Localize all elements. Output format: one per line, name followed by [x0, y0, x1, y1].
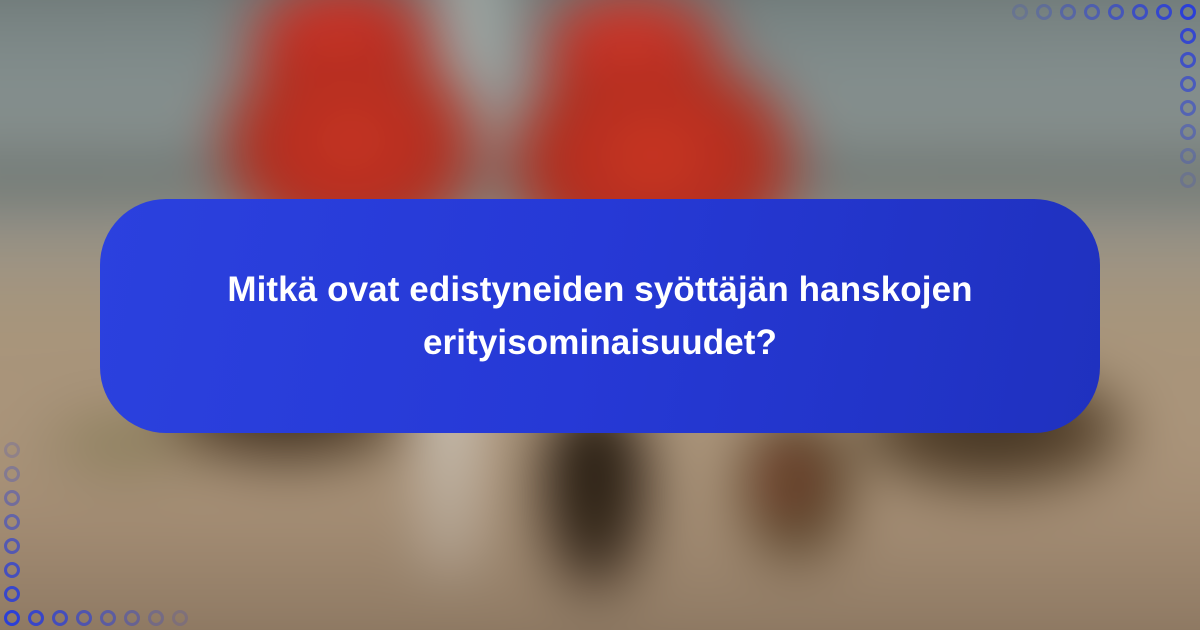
decorative-dot — [1156, 4, 1172, 20]
decorative-dot — [4, 538, 20, 554]
decorative-dot — [1180, 148, 1196, 164]
question-text: Mitkä ovat edistyneiden syöttäjän hansko… — [205, 263, 995, 369]
decorative-dot — [28, 610, 44, 626]
question-card: Mitkä ovat edistyneiden syöttäjän hansko… — [100, 199, 1100, 433]
decorative-dot — [1180, 52, 1196, 68]
decorative-dot — [1180, 100, 1196, 116]
decorative-dot — [124, 610, 140, 626]
page-stage: Mitkä ovat edistyneiden syöttäjän hansko… — [0, 0, 1200, 630]
decorative-dot — [1180, 4, 1196, 20]
decorative-dot — [4, 466, 20, 482]
decorative-dot — [1180, 28, 1196, 44]
decorative-dot — [4, 490, 20, 506]
decorative-dot — [4, 586, 20, 602]
decorative-dot — [148, 610, 164, 626]
decorative-dot — [100, 610, 116, 626]
decorative-dot — [1108, 4, 1124, 20]
decorative-dot — [4, 442, 20, 458]
decorative-dot — [4, 562, 20, 578]
decorative-dot — [1036, 4, 1052, 20]
decorative-dot — [1180, 172, 1196, 188]
decorative-dot — [1060, 4, 1076, 20]
decorative-dot — [1180, 124, 1196, 140]
background-field-accent — [764, 442, 811, 516]
decorative-dot — [1132, 4, 1148, 20]
decorative-dot — [172, 610, 188, 626]
decorative-dot — [52, 610, 68, 626]
decorative-dot — [1084, 4, 1100, 20]
decorative-dot — [1012, 4, 1028, 20]
decorative-dot — [4, 610, 20, 626]
decorative-dot — [76, 610, 92, 626]
decorative-dot — [4, 514, 20, 530]
decorative-dot — [1180, 76, 1196, 92]
